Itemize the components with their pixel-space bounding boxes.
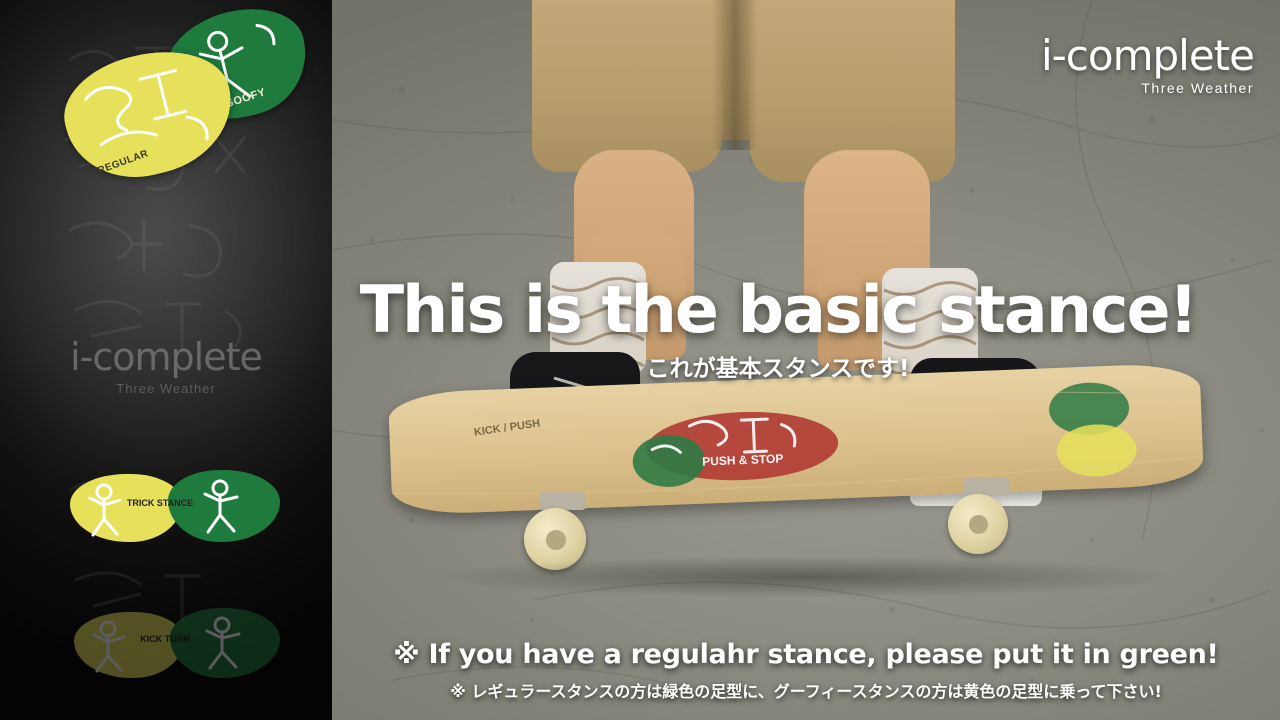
footer-english: ※ If you have a regulahr stance, please … [332, 639, 1280, 670]
video-brand-name: i-complete [1041, 36, 1254, 76]
headline-english: This is the basic stance! [338, 278, 1218, 343]
wheel-front-hub [546, 530, 566, 550]
foot-marker-trick-stance-pair[interactable]: TRICK STANCE [70, 470, 280, 550]
wheel-rear-hub [969, 515, 988, 534]
video-frame: GOOFY REGULAR i-complete Three Weather [0, 0, 1280, 720]
main-caption: This is the basic stance! これが基本スタンスです! [338, 278, 1218, 383]
trick-yellow-foot[interactable] [70, 474, 182, 542]
foot-marker-kick-turn-pair[interactable]: KICK TURN [74, 608, 280, 684]
trick-stance-label: TRICK STANCE [122, 498, 198, 508]
trick-yellow-figure [70, 474, 182, 542]
panel-brand: i-complete Three Weather [0, 338, 332, 396]
truck-rear [964, 478, 1010, 496]
shorts-gap-shadow [712, 0, 758, 150]
left-info-panel: GOOFY REGULAR i-complete Three Weather [0, 0, 332, 720]
headline-japanese: これが基本スタンスです! [338, 349, 1218, 383]
svg-text:KICK / PUSH: KICK / PUSH [473, 417, 541, 438]
kickturn-yellow-figure [74, 612, 184, 678]
video-brand: i-complete Three Weather [1041, 36, 1254, 96]
kick-turn-label: KICK TURN [124, 634, 206, 644]
footer-caption: ※ If you have a regulahr stance, please … [332, 639, 1280, 702]
foot-marker-yellow[interactable]: REGULAR [53, 36, 245, 193]
panel-brand-tagline: Three Weather [0, 381, 332, 396]
board-shadow [422, 556, 1182, 598]
footer-japanese: ※ レギュラースタンスの方は緑色の足型に、グーフィースタンスの方は黄色の足型に乗… [332, 678, 1280, 702]
yellow-foot-figure [53, 36, 245, 193]
truck-front [540, 492, 586, 510]
shorts-left-leg [532, 0, 722, 172]
kickturn-yellow-foot[interactable] [74, 612, 184, 678]
panel-brand-name: i-complete [0, 338, 332, 376]
video-brand-tagline: Three Weather [1041, 80, 1254, 96]
